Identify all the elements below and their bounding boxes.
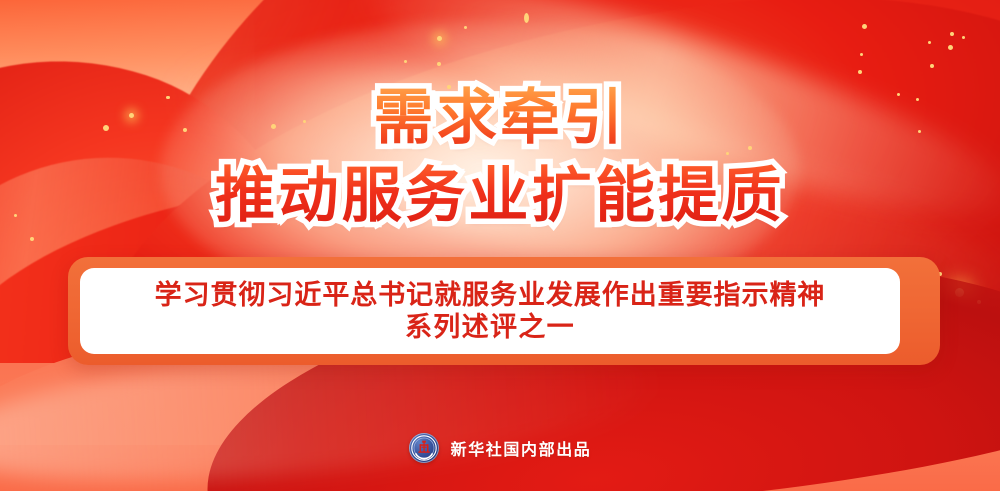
title-line-1: 需求牵引 需求牵引	[0, 86, 1000, 150]
subtitle-line-1: 学习贯彻习近平总书记就服务业发展作出重要指示精神	[155, 280, 826, 312]
subtitle-box: 学习贯彻习近平总书记就服务业发展作出重要指示精神 系列述评之一	[80, 268, 900, 354]
footer-label: 新华社国内部出品	[451, 436, 592, 460]
footer: 新华社国内部出品	[0, 433, 1000, 463]
poster-title: 需求牵引 需求牵引 推动服务业扩能提质 推动服务业扩能提质	[0, 86, 1000, 227]
footer-band	[0, 363, 1000, 491]
title-line-2-fill: 推动服务业扩能提质	[215, 162, 785, 229]
subtitle-panel: 学习贯彻习近平总书记就服务业发展作出重要指示精神 系列述评之一	[68, 257, 940, 365]
xinhua-emblem-icon	[409, 433, 439, 463]
subtitle-line-2: 系列述评之一	[405, 312, 575, 344]
title-line-1-fill: 需求牵引	[373, 84, 626, 151]
title-line-2: 推动服务业扩能提质 推动服务业扩能提质	[0, 164, 1000, 228]
poster-banner: 需求牵引 需求牵引 推动服务业扩能提质 推动服务业扩能提质 学习贯彻习近平总书记…	[0, 0, 1000, 491]
